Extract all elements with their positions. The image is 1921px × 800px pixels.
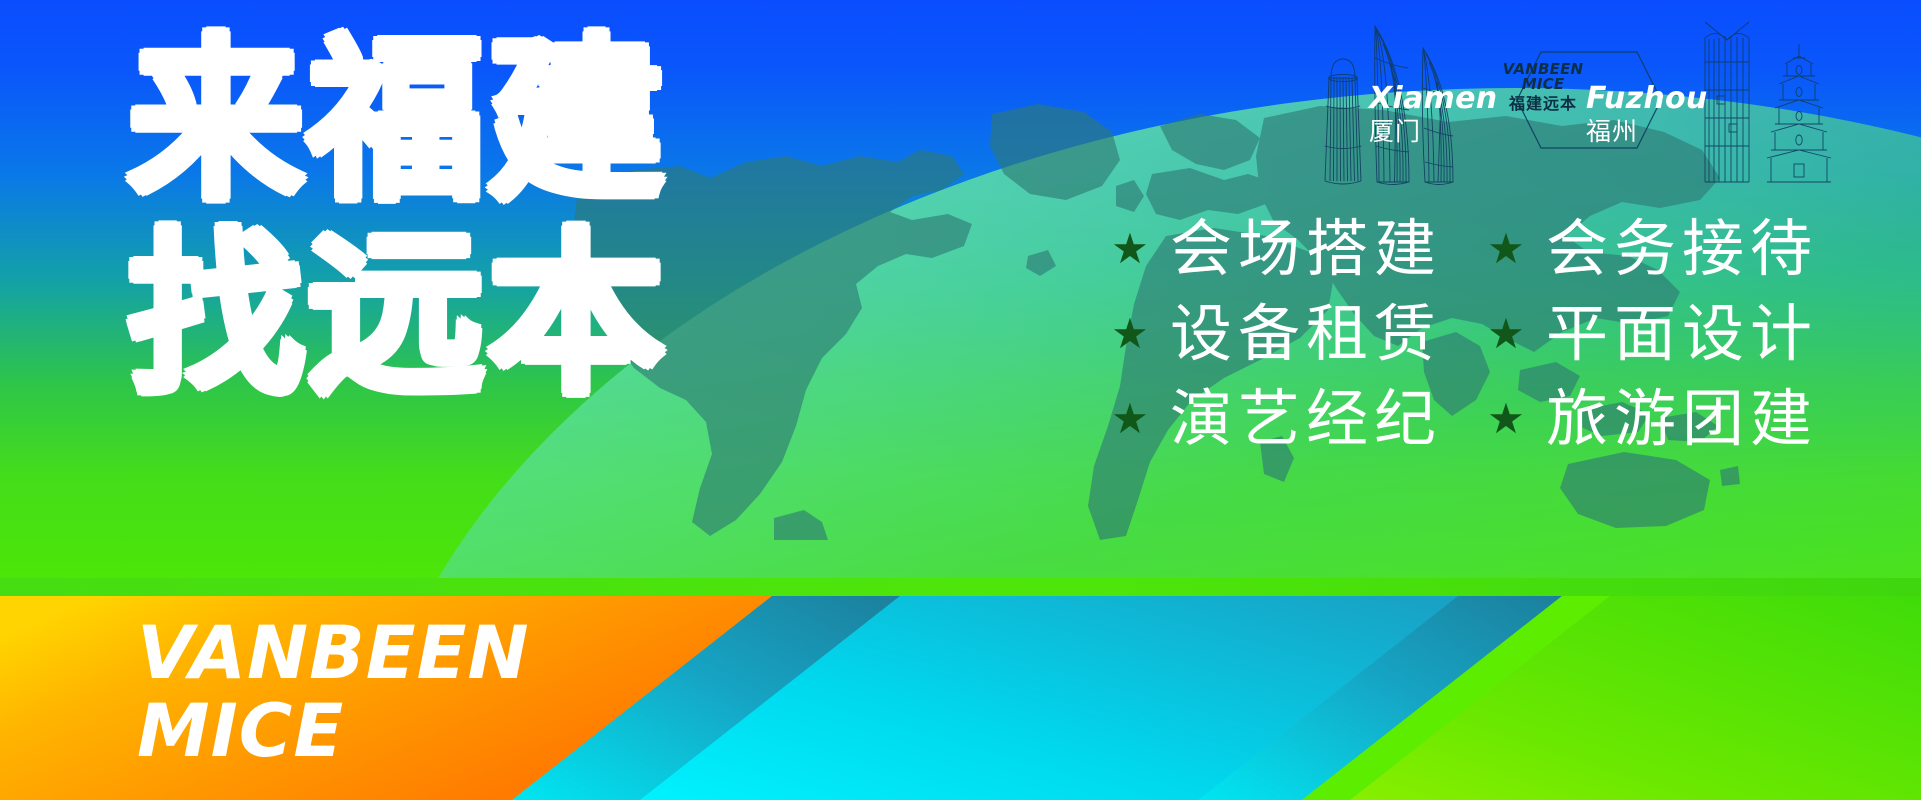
service-label: 会务接待 (1546, 212, 1824, 285)
fuzhou-tower-pagoda-icon (1705, 22, 1749, 182)
service-item: ★ 平面设计 (1484, 297, 1824, 370)
service-item: ★ 会场搭建 (1108, 212, 1448, 285)
headline-line-1: 来福建 (128, 36, 668, 208)
services-row: ★ 会场搭建 ★ 会务接待 (1108, 212, 1824, 285)
city-label-xiamen: Xiamen 厦门 (1369, 84, 1497, 144)
star-icon: ★ (1484, 313, 1528, 355)
star-icon: ★ (1484, 228, 1528, 270)
brand-wordmark: VANBEEN MICE (137, 618, 530, 767)
star-icon: ★ (1484, 398, 1528, 440)
services-list: ★ 会场搭建 ★ 会务接待 ★ 设备租赁 ★ 平面设计 ★ 演艺经纪 (1108, 212, 1824, 455)
headline-line-2: 找远本 (128, 230, 668, 402)
service-label: 会场搭建 (1170, 212, 1448, 285)
service-item: ★ 旅游团建 (1484, 382, 1824, 455)
star-icon: ★ (1108, 228, 1152, 270)
promo-banner: 来福建 找远本 ★ 会场搭建 ★ 会务接待 ★ 设备租赁 ★ 平面设计 (0, 0, 1921, 800)
service-item: ★ 会务接待 (1484, 212, 1824, 285)
wordmark-line-2: MICE (137, 696, 530, 768)
wordmark-line-1: VANBEEN (137, 618, 530, 690)
hex-logo-cn: 福建远本 (1484, 96, 1602, 113)
diagonal-ribbon-icon: VANBEEN MICE (0, 578, 1921, 800)
service-label: 设备租赁 (1170, 297, 1448, 370)
service-label: 平面设计 (1546, 297, 1824, 370)
service-label: 旅游团建 (1546, 382, 1824, 455)
services-row: ★ 设备租赁 ★ 平面设计 (1108, 297, 1824, 370)
service-item: ★ 演艺经纪 (1108, 382, 1448, 455)
city-name-en: Xiamen (1369, 84, 1497, 114)
star-icon: ★ (1108, 398, 1152, 440)
city-name-cn: 厦门 (1369, 119, 1497, 144)
city-landmark-bar: Xiamen 厦门 Fuzhou 福州 VANBEEN MICE 福建远本 (1305, 6, 1905, 186)
city-name-en: Fuzhou (1586, 84, 1708, 114)
xiamen-sail-towers-icon (1325, 59, 1362, 184)
service-item: ★ 设备租赁 (1108, 297, 1448, 370)
star-icon: ★ (1108, 313, 1152, 355)
services-row: ★ 演艺经纪 ★ 旅游团建 (1108, 382, 1824, 455)
service-label: 演艺经纪 (1170, 382, 1448, 455)
hexagon-brand-logo: VANBEEN MICE 福建远本 (1484, 62, 1602, 136)
hex-logo-en-line-2: MICE (1484, 77, 1602, 92)
headline: 来福建 找远本 (128, 36, 668, 403)
city-label-fuzhou: Fuzhou 福州 (1586, 84, 1708, 144)
city-name-cn: 福州 (1586, 119, 1708, 144)
